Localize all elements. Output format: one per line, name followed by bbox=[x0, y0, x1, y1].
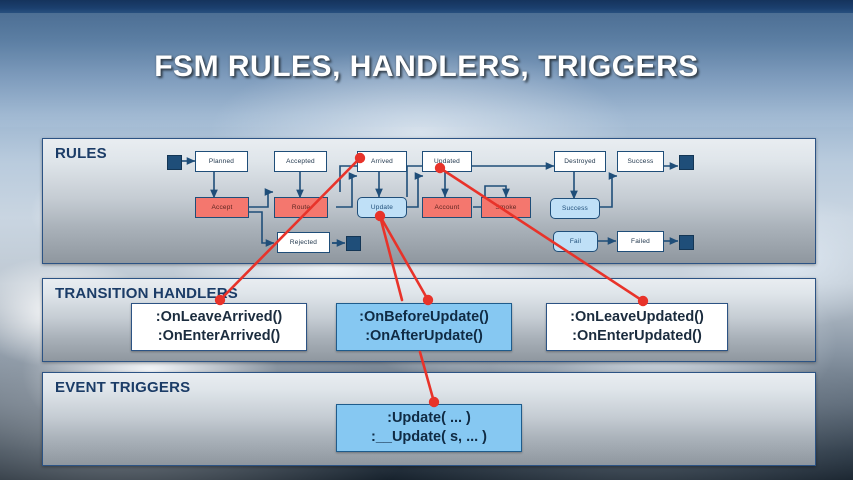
callout-line-updated bbox=[440, 168, 643, 301]
callout-line-update-b bbox=[380, 216, 428, 300]
callout-connectors bbox=[0, 0, 853, 480]
slide-canvas: FSM RULES, HANDLERS, TRIGGERS RULES bbox=[0, 0, 853, 480]
callout-dot-arrived-target bbox=[215, 295, 225, 305]
callout-dot-updated-source bbox=[435, 163, 445, 173]
callout-dot-update-target bbox=[423, 295, 433, 305]
callout-dot-trigger-target bbox=[429, 397, 439, 407]
callout-dot-update-source bbox=[375, 211, 385, 221]
callout-endpoints bbox=[215, 153, 648, 407]
callout-dot-arrived-source bbox=[355, 153, 365, 163]
callout-line-trigger bbox=[420, 352, 434, 402]
callout-line-update-a bbox=[380, 216, 402, 300]
callout-dot-updated-target bbox=[638, 296, 648, 306]
callout-line-arrived bbox=[220, 158, 360, 300]
